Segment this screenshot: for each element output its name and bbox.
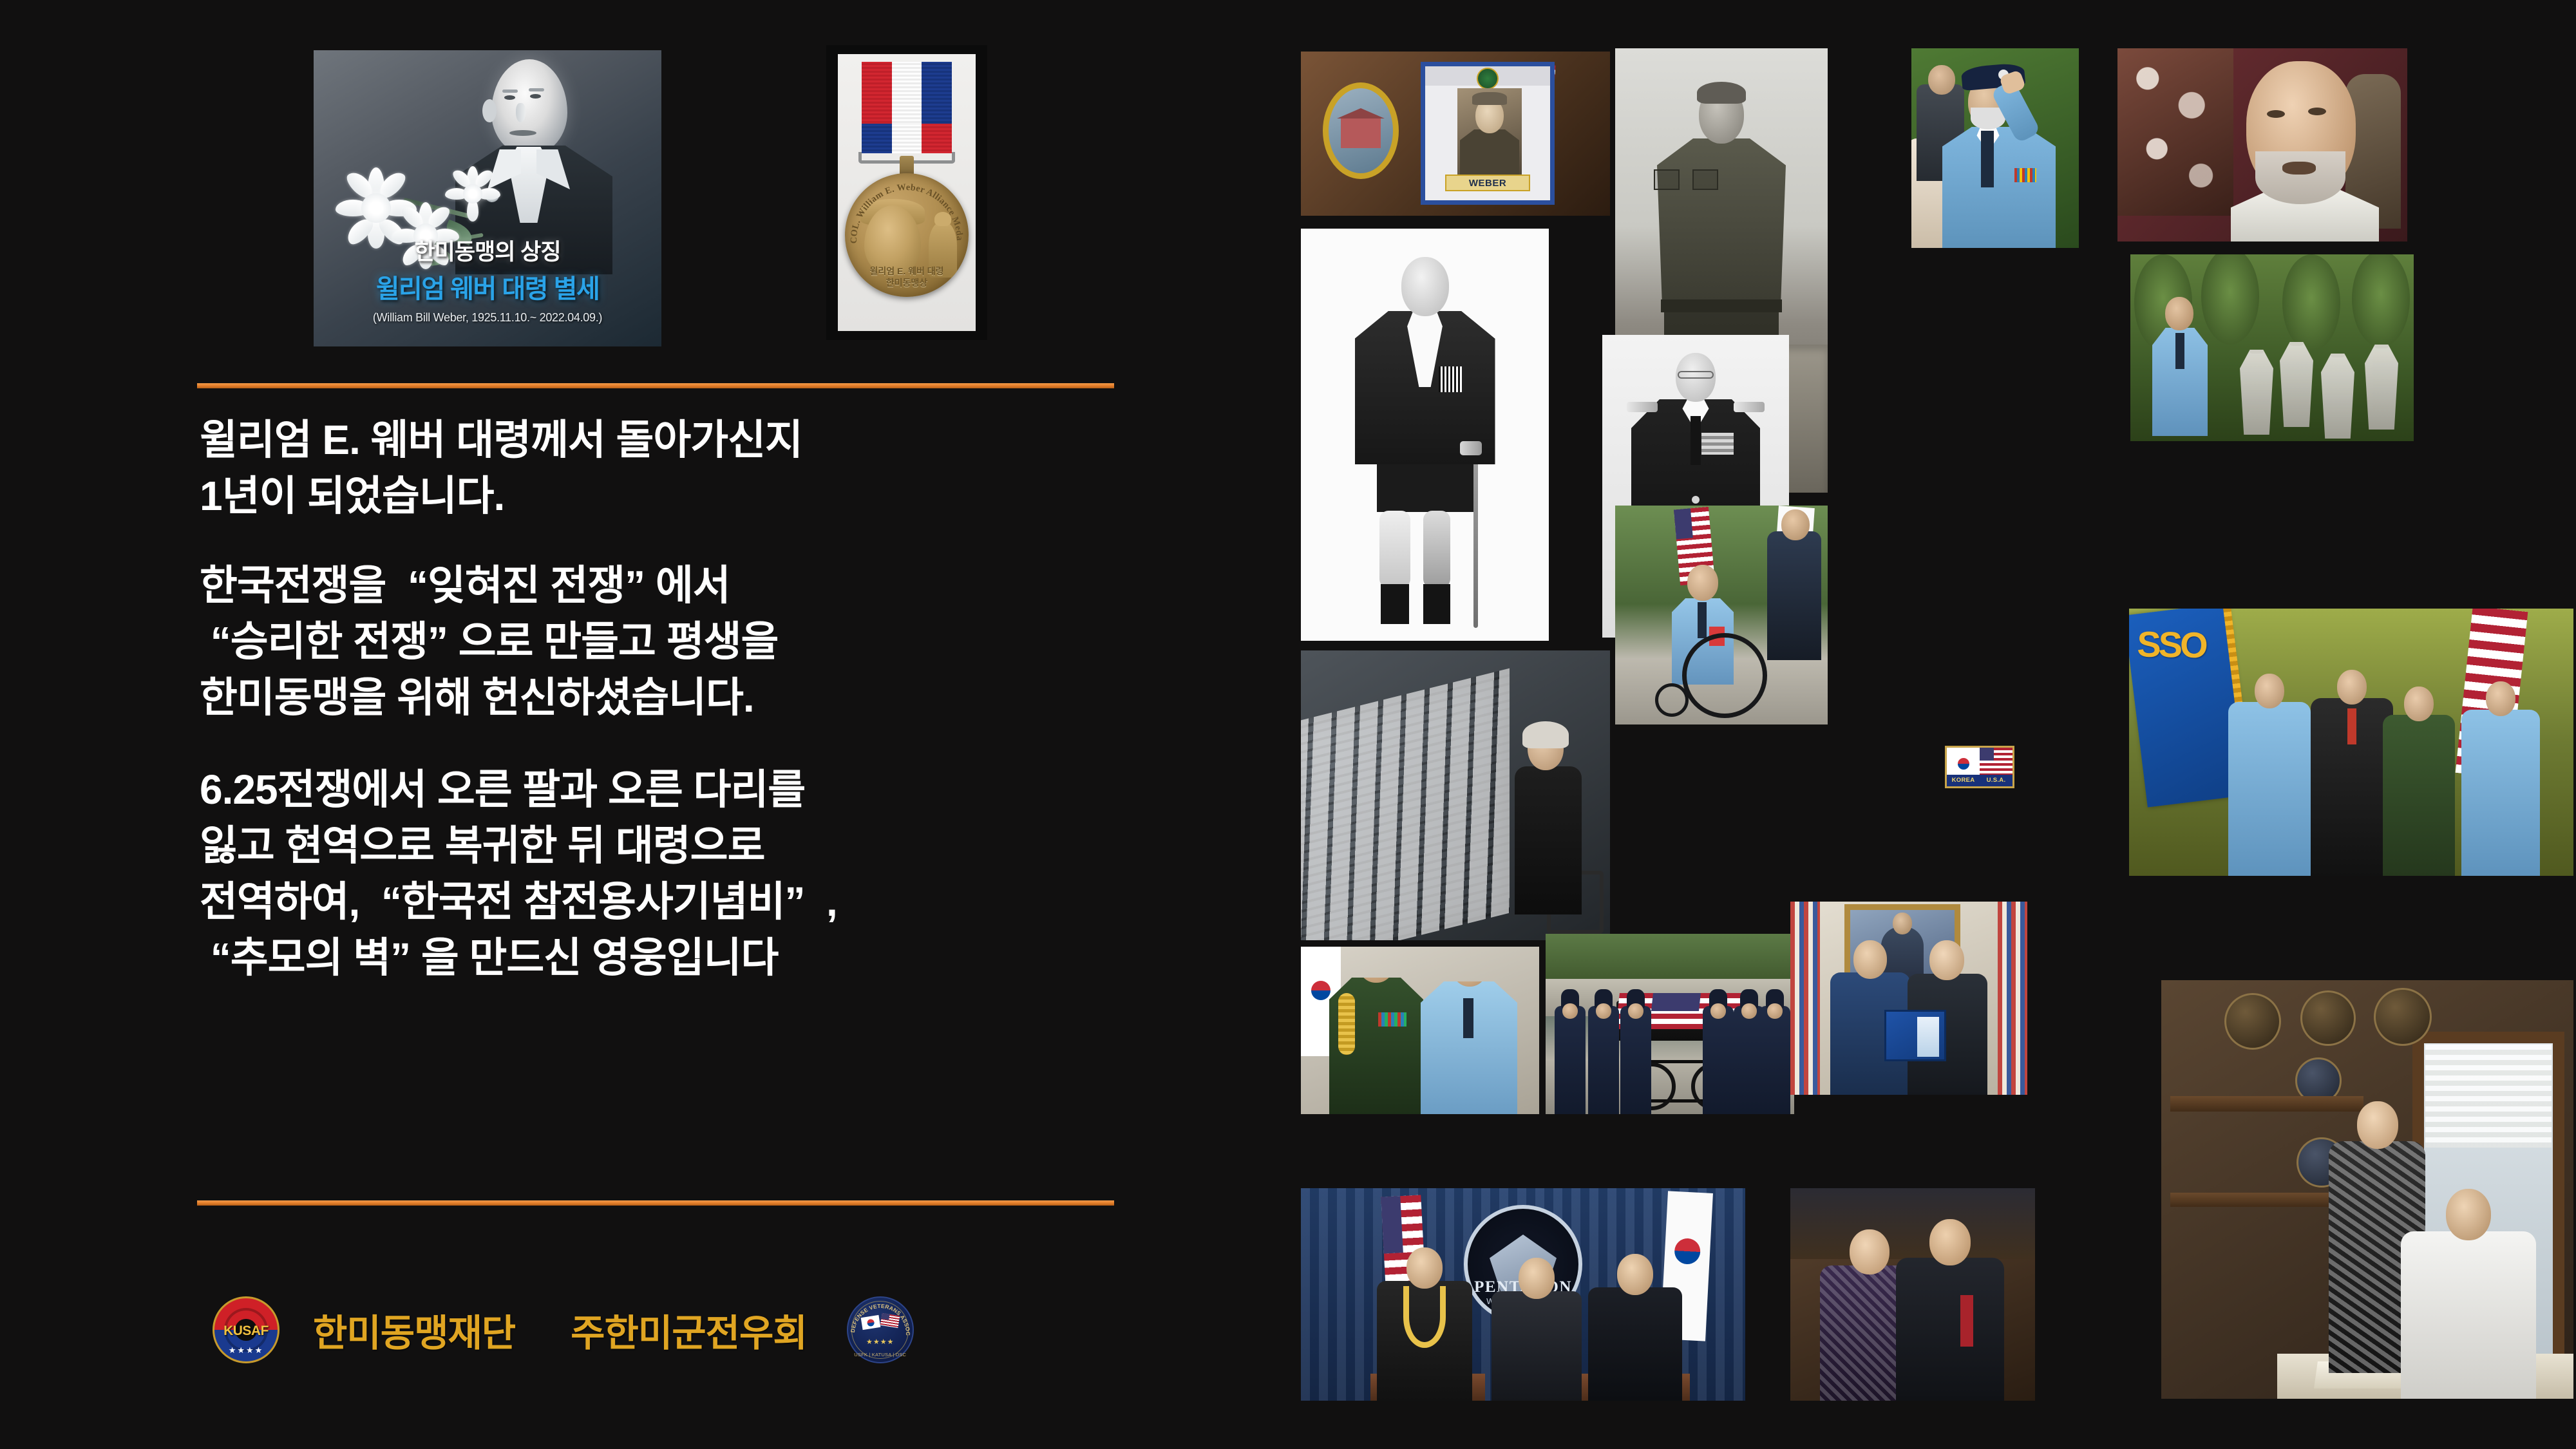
kdva-bottom-label: USFK | KATUSA | DSC	[847, 1352, 914, 1358]
portrait-mouth	[509, 130, 536, 136]
medal-disc: COL. William E. Weber Alliance Medal 윌리엄…	[845, 173, 969, 297]
korean-general	[1329, 978, 1423, 1114]
footer-organizations: KUSAF ★★★★ 한미동맹재단 주한미군전우회 KOREA DEFENSE …	[213, 1259, 1127, 1401]
tree	[2352, 254, 2410, 347]
medal-korean-line1: 윌리엄 E. 웨버 대령	[845, 266, 969, 278]
divider-top	[197, 383, 1114, 388]
photo-weber-prosthetic-portrait	[1301, 229, 1549, 641]
unit-seal-icon	[1477, 68, 1499, 90]
decorative-plate	[2300, 990, 2356, 1046]
escort-official	[1767, 531, 1821, 660]
award-sash	[1403, 1286, 1446, 1348]
curtain	[1790, 902, 1820, 1095]
curtain	[1998, 902, 2027, 1095]
prosthetic-arm-cuff	[1460, 441, 1482, 455]
weber-nameplate: WEBER	[1445, 175, 1530, 191]
photo-award-presentation	[1790, 902, 2027, 1095]
medal-knob	[900, 156, 914, 175]
beard	[2255, 151, 2345, 204]
honor-guard-soldier	[1588, 1006, 1619, 1114]
official-greeting	[1896, 1258, 2004, 1401]
uniform-pocket	[1654, 169, 1680, 190]
memorial-statue	[2365, 345, 2398, 430]
necktie	[1960, 1295, 1973, 1347]
tree	[2282, 254, 2340, 351]
soldier-hair	[1697, 82, 1746, 104]
memorial-statue	[2321, 354, 2354, 439]
memorial-card-text: 한미동맹의 상징 윌리엄 웨버 대령 별세 (William Bill Webe…	[314, 234, 661, 325]
weber-alliance-medal: COL. William E. Weber Alliance Medal 윌리엄…	[826, 45, 987, 340]
background	[1790, 1188, 2035, 1259]
widow-at-wall	[1506, 726, 1589, 920]
uniform-pocket	[1692, 169, 1718, 190]
lace-curtain	[2425, 1045, 2552, 1148]
honor-guard-soldier	[1703, 1006, 1734, 1114]
left-panel: 한미동맹의 상징 윌리엄 웨버 대령 별세 (William Bill Webe…	[0, 0, 1288, 1449]
patch-label-korea: KOREA	[1947, 775, 1980, 786]
sock	[1423, 584, 1450, 624]
kdva-crossed-flags-icon	[862, 1314, 899, 1333]
portrait-head	[491, 59, 567, 155]
weber-seated	[1421, 981, 1517, 1114]
kdva-seal-icon: KOREA DEFENSE VETERANS ASSOCIATION ★★★★ …	[847, 1296, 914, 1363]
photo-general-with-weber	[1301, 947, 1539, 1114]
decorative-plate	[2374, 988, 2432, 1046]
oval-picture-frame	[1323, 82, 1399, 179]
weber-head	[1401, 257, 1449, 316]
photo-honor-guard-casket	[1546, 934, 1794, 1114]
shelf	[2170, 1096, 2363, 1112]
weber-seated-at-table	[2401, 1231, 2536, 1399]
epaulette-left	[1627, 402, 1658, 412]
leg	[1423, 511, 1450, 588]
footer-org-1: 한미동맹재단	[313, 1303, 515, 1357]
medal-ribbon-lower	[862, 124, 952, 153]
us-defense-secretary	[1492, 1291, 1582, 1401]
engraved-names	[1301, 668, 1510, 940]
photo-greeting-widow	[1790, 1188, 2035, 1401]
memorial-card-line1: 한미동맹의 상징	[314, 234, 661, 267]
portrait-nose	[516, 103, 526, 122]
memorial-card: 한미동맹의 상징 윌리엄 웨버 대령 별세 (William Bill Webe…	[314, 50, 661, 346]
house-painting	[1341, 117, 1381, 148]
kusaf-logo-icon: KUSAF ★★★★	[213, 1296, 279, 1363]
service-ribbons	[2014, 168, 2036, 182]
weber-memorial-poster: WEBER	[1421, 62, 1555, 205]
flower-blossom	[445, 166, 500, 222]
memorial-card-dates: (William Bill Weber, 1925.11.10.~ 2022.0…	[314, 311, 661, 325]
svg-text:COL. William E. Weber Alliance: COL. William E. Weber Alliance Medal	[845, 173, 965, 243]
memorial-statue	[2280, 342, 2313, 427]
weber-at-memorial	[2142, 297, 2217, 436]
young-weber-portrait	[1457, 88, 1522, 178]
kdva-stars: ★★★★	[847, 1338, 914, 1346]
korean-defense-minister	[1588, 1287, 1682, 1401]
photo-weber-interview	[2117, 48, 2407, 241]
kusaf-logo-label: KUSAF	[213, 1323, 279, 1339]
photo-color-guard-ceremony: SSO	[2129, 609, 2573, 876]
honor-guard-soldier	[1620, 1006, 1651, 1114]
portrait-brow-right	[529, 88, 544, 91]
tribute-paragraph-2: 한국전쟁을 “잊혀진 전쟁” 에서 “승리한 전쟁” 으로 만들고 평생을 한미…	[200, 558, 1140, 726]
shoulder-patch	[1439, 366, 1462, 392]
photo-wheelchair-ceremony	[1615, 506, 1828, 724]
tribute-paragraph-3: 6.25전쟁에서 오른 팔과 오른 다리를 잃고 현역으로 복귀한 뒤 대령으로…	[200, 762, 1140, 986]
floral-wallpaper	[2117, 48, 2233, 216]
eyeglasses	[1678, 371, 1714, 379]
eye-right	[2308, 108, 2326, 115]
korean-officer	[2383, 715, 2455, 876]
memorial-card-line2: 윌리엄 웨버 대령 별세	[314, 268, 661, 305]
veteran-blue-blazer	[2228, 702, 2311, 876]
portrait-ear	[482, 99, 497, 122]
photo-pentagon-press-conference: PENTAGON WASHINGTON	[1301, 1188, 1745, 1401]
photo-weber-memorabilia: WEBER	[1301, 52, 1610, 216]
blue-blazer	[1942, 127, 2056, 248]
necktie	[1690, 416, 1701, 465]
award-certificate-folder	[1884, 1010, 1946, 1061]
sock	[1381, 584, 1409, 624]
patch-label-usa: U.S.A.	[1980, 775, 2012, 786]
veteran-dark-suit	[2311, 698, 2393, 876]
banner-text: SSO	[2137, 629, 2206, 661]
prosthetic-leg	[1379, 511, 1410, 588]
decorative-plate	[2224, 993, 2281, 1050]
honor-guard-soldier	[1555, 1006, 1586, 1114]
photo-collage: WEBER	[1288, 0, 2576, 1449]
footer-org-2: 주한미군전우회	[571, 1303, 807, 1357]
honor-guard-soldier	[1759, 1006, 1790, 1114]
epaulette-right	[1734, 402, 1765, 412]
soldier-uniform	[1657, 138, 1786, 306]
weber-at-podium	[1377, 1281, 1472, 1401]
medal-arc-label: COL. William E. Weber Alliance Medal	[845, 173, 965, 243]
eye-left	[2267, 110, 2285, 118]
uniform-belt	[1661, 299, 1782, 312]
portrait-eye-right	[530, 94, 541, 99]
mouth	[2282, 162, 2316, 175]
kusaf-logo-stars: ★★★★	[213, 1345, 279, 1356]
memorial-slide: 한미동맹의 상징 윌리엄 웨버 대령 별세 (William Bill Webe…	[0, 0, 2576, 1449]
photo-wall-of-remembrance	[1301, 650, 1610, 940]
wheelchair-caster	[1655, 683, 1689, 717]
tribute-text-block: 윌리엄 E. 웨버 대령께서 돌아가신지 1년이 되었습니다. 한국전쟁을 “잊…	[200, 412, 1140, 986]
divider-bottom	[197, 1200, 1114, 1206]
tribute-paragraph-1: 윌리엄 E. 웨버 대령께서 돌아가신지 1년이 되었습니다.	[200, 412, 1140, 524]
photo-weber-couple-at-home	[2161, 980, 2573, 1399]
portrait-brow-left	[502, 90, 518, 93]
medal-korean-line2: 한미동맹상	[845, 278, 969, 289]
portrait-eye-left	[504, 95, 515, 100]
veteran-flag-bearer	[2461, 710, 2540, 876]
medal-rack	[1701, 433, 1734, 455]
shorts	[1377, 460, 1473, 512]
photo-weber-saluting	[1911, 48, 2079, 248]
korea-usa-flag-patch: KOREA U.S.A.	[1945, 746, 2014, 788]
memorial-wall-slab	[1301, 668, 1510, 940]
wheelchair-wheel	[1682, 633, 1767, 718]
memorial-statue	[2240, 350, 2273, 435]
medal-korean-inscription: 윌리엄 E. 웨버 대령 한미동맹상	[845, 266, 969, 289]
necktie	[1981, 131, 1994, 187]
photo-korean-war-memorial-statues	[2130, 254, 2414, 441]
